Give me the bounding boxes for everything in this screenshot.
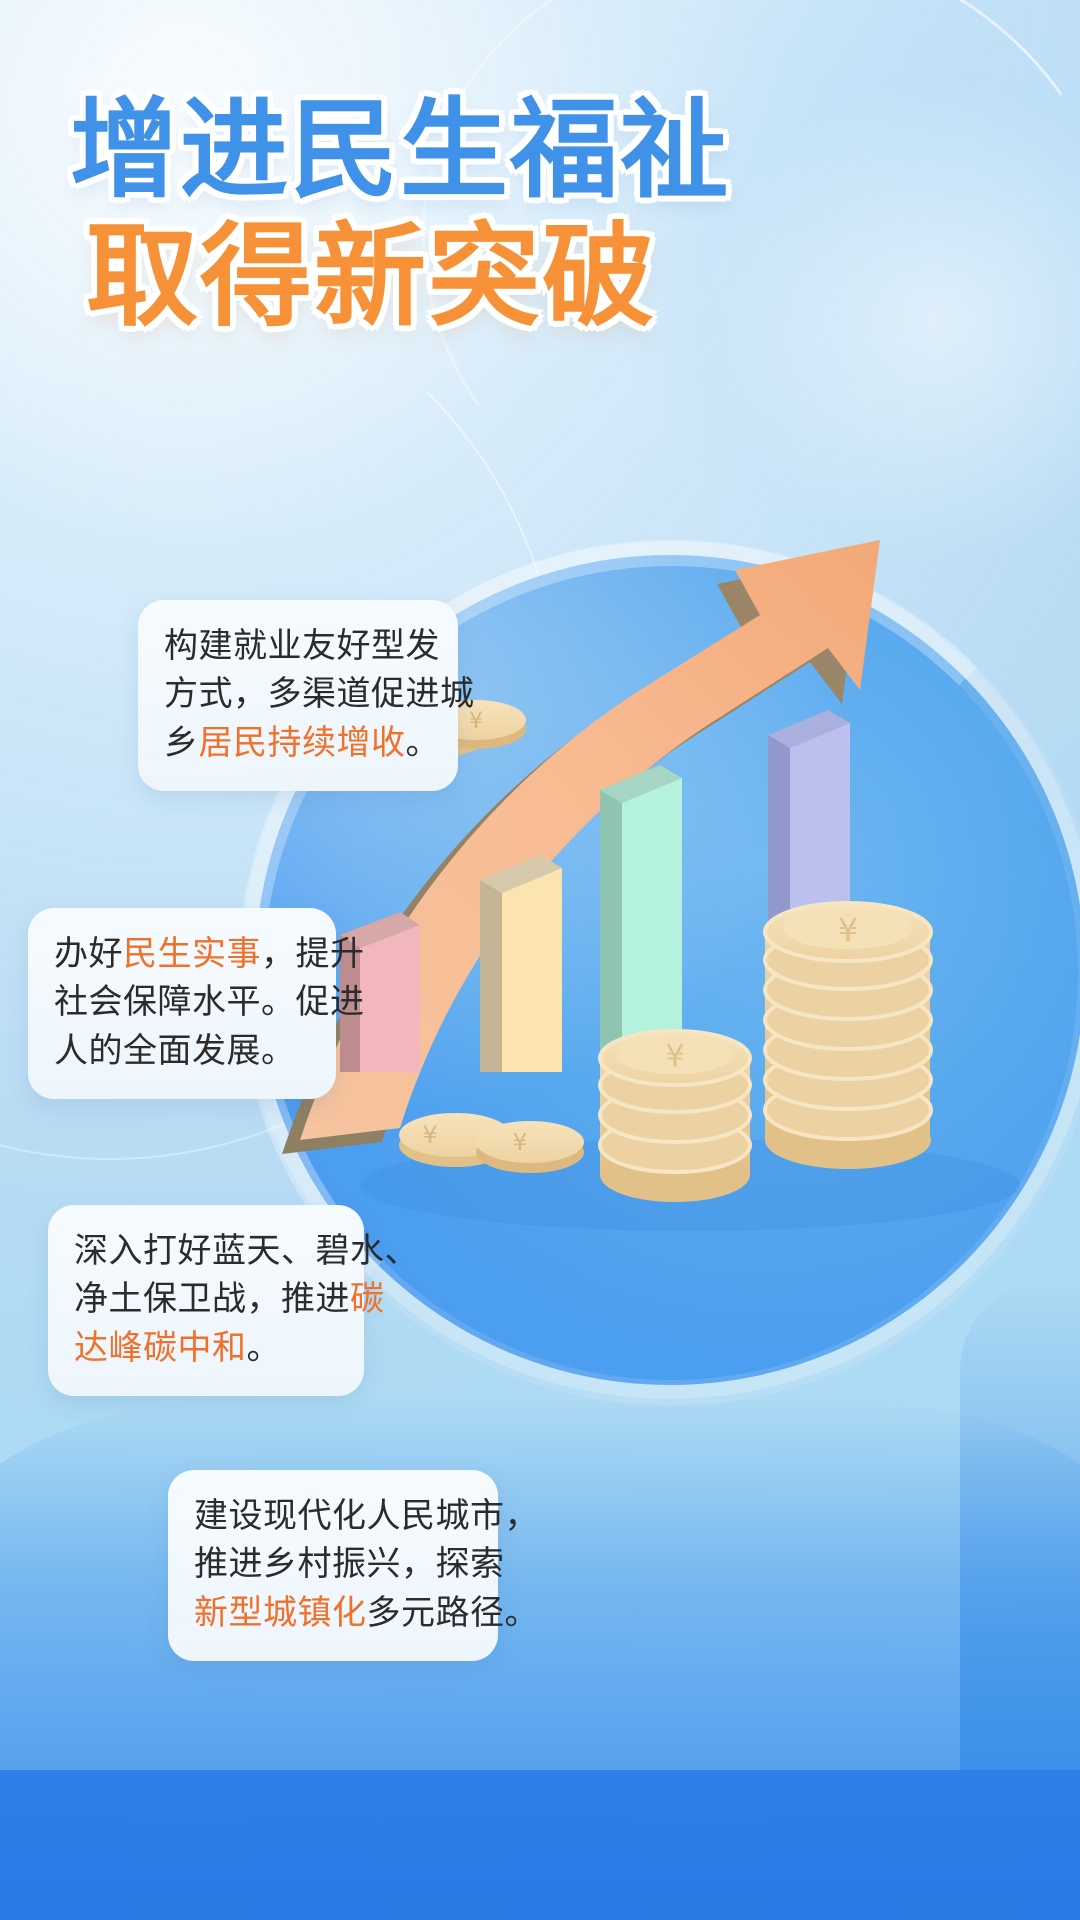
bubble-3-line-2: 净土保卫战，推进碳 (74, 1275, 338, 1323)
bubble-2-line-2: 社会保障水平。促进 (54, 978, 310, 1026)
text-plain: 人的全面发展。 (54, 1032, 296, 1070)
environment-bubble[interactable]: 深入打好蓝天、碧水、 净土保卫战，推进碳 达峰碳中和。 (48, 1205, 364, 1396)
text-plain: 。 (406, 724, 441, 762)
bubble-4-line-2: 推进乡村振兴，探索 (194, 1540, 472, 1588)
bubble-3-line-3: 达峰碳中和。 (74, 1324, 338, 1372)
text-highlight: 居民持续增收 (199, 724, 406, 762)
text-plain: 推进乡村振兴，探索 (194, 1545, 505, 1583)
text-plain: 深入打好蓝天、碧水、 (74, 1232, 419, 1270)
text-highlight: 新型城镇化 (194, 1594, 367, 1632)
bottom-wave-band (0, 1400, 1080, 1820)
text-highlight: 碳 (350, 1280, 385, 1318)
text-plain: 建设现代化人民城市， (194, 1497, 539, 1535)
text-plain: 构建就业友好型发 (164, 627, 440, 665)
title-line-2: 取得新突破 (0, 220, 1080, 334)
poster-title: 增进民生福祉 取得新突破 (0, 96, 1080, 334)
text-plain: 多元路径。 (367, 1594, 540, 1632)
bubble-3-line-1: 深入打好蓝天、碧水、 (74, 1227, 338, 1275)
text-plain: ，提升 (261, 935, 365, 973)
bottom-solid-band (0, 1770, 1080, 1920)
text-plain: 净土保卫战，推进 (74, 1280, 350, 1318)
bubble-1-line-2: 方式，多渠道促进城 (164, 670, 432, 718)
text-plain: 乡 (164, 724, 199, 762)
urbanization-bubble[interactable]: 建设现代化人民城市， 推进乡村振兴，探索 新型城镇化多元路径。 (168, 1470, 498, 1661)
bubble-2-line-3: 人的全面发展。 (54, 1027, 310, 1075)
text-plain: 方式，多渠道促进城 (164, 675, 475, 713)
text-plain: 办好 (54, 935, 123, 973)
text-highlight: 达峰碳中和 (74, 1329, 247, 1367)
title-line-1: 增进民生福祉 (0, 96, 1080, 206)
employment-bubble[interactable]: 构建就业友好型发 方式，多渠道促进城 乡居民持续增收。 (138, 600, 458, 791)
poster-root: 增进民生福祉 取得新突破 (0, 0, 1080, 1920)
text-plain: 社会保障水平。促进 (54, 983, 365, 1021)
bubble-1-line-3: 乡居民持续增收。 (164, 719, 432, 767)
social-security-bubble[interactable]: 办好民生实事，提升 社会保障水平。促进 人的全面发展。 (28, 908, 336, 1099)
bubble-4-line-1: 建设现代化人民城市， (194, 1492, 472, 1540)
text-highlight: 民生实事 (123, 935, 261, 973)
bubble-4-line-3: 新型城镇化多元路径。 (194, 1589, 472, 1637)
bubble-2-line-1: 办好民生实事，提升 (54, 930, 310, 978)
bottom-right-band (960, 1280, 1080, 1800)
text-plain: 。 (247, 1329, 282, 1367)
bubble-1-line-1: 构建就业友好型发 (164, 622, 432, 670)
